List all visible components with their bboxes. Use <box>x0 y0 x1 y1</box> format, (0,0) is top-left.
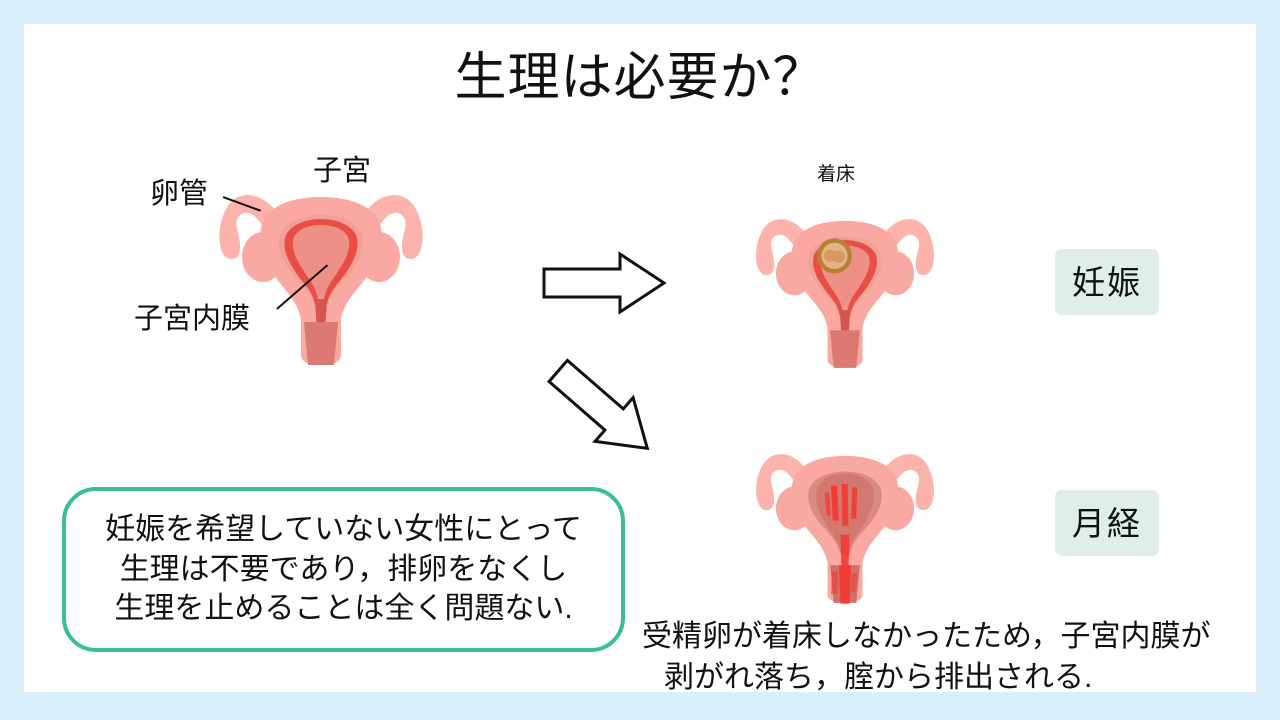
arrow-to-menstruation <box>540 359 670 464</box>
conclusion-line-1: 妊娠を希望していない女性にとって <box>105 510 582 550</box>
conclusion-line-2: 生理は不要であり，排卵をなくし <box>120 550 568 590</box>
label-endometrium: 子宮内膜 <box>134 295 250 337</box>
menstrual-flow <box>839 565 851 604</box>
implanted-embryo <box>817 238 852 273</box>
conclusion-box: 妊娠を希望していない女性にとって 生理は不要であり，排卵をなくし 生理を止めるこ… <box>62 487 625 652</box>
status-badge-pregnancy: 妊娠 <box>1055 249 1159 315</box>
caption-line-2: 剥がれ落ち，腟から排出される. <box>642 657 1256 698</box>
label-implantation: 着床 <box>817 159 855 186</box>
page-title: 生理は必要か？ <box>24 50 1256 107</box>
vagina <box>830 330 860 368</box>
arrow-to-pregnancy <box>542 252 666 314</box>
uterus-diagram-menstruation <box>740 422 950 607</box>
menstrual-flow-streak <box>831 571 838 594</box>
uterus-diagram-implantation <box>740 187 950 372</box>
uterus-diagram-normal <box>201 159 441 369</box>
label-uterus: 子宮 <box>313 147 371 189</box>
bottom-caption: 受精卵が着床しなかったため，子宮内膜が 剥がれ落ち，腟から排出される. <box>642 616 1256 698</box>
vagina <box>304 322 338 365</box>
conclusion-line-3: 生理を止めることは全く問題ない. <box>114 589 572 629</box>
status-badge-menstruation: 月経 <box>1055 490 1159 556</box>
slide-canvas: 生理は必要か？ <box>24 24 1256 692</box>
caption-line-1: 受精卵が着床しなかったため，子宮内膜が <box>642 616 1256 657</box>
label-fallopian-tube: 卵管 <box>150 170 208 212</box>
slide-outer-frame: 生理は必要か？ <box>0 0 1280 720</box>
